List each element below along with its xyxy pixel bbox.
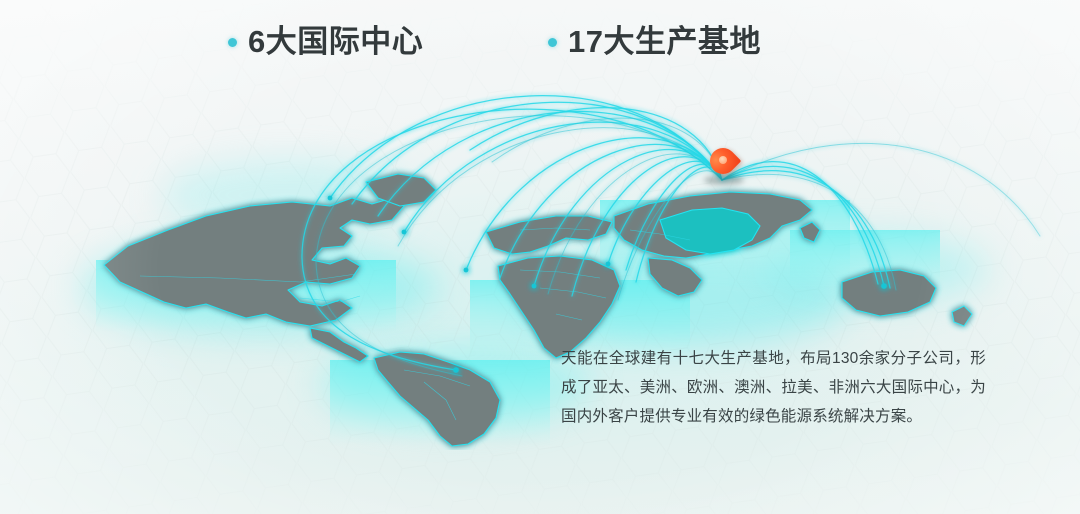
dot-icon [548, 38, 557, 47]
map-pin-icon[interactable] [710, 148, 736, 184]
landmass-australia [842, 270, 936, 316]
landmass-central-america [310, 328, 368, 362]
landmass-greenland [366, 174, 436, 206]
heading-1-label: 6大国际中心 [248, 20, 423, 64]
pin-shadow [704, 175, 744, 185]
landmass-europe [486, 216, 612, 254]
landmass-new-zealand [952, 306, 972, 326]
heading-2-label: 17大生产基地 [568, 20, 761, 64]
description-block: 天能在全球建有十七大生产基地，布局130余家分子公司，形成了亚太、美洲、欧洲、澳… [561, 344, 986, 431]
pin-inner-circle [719, 156, 727, 164]
description-text: 天能在全球建有十七大生产基地，布局130余家分子公司，形成了亚太、美洲、欧洲、澳… [561, 344, 986, 431]
heading-production-bases: 17大生产基地 [548, 20, 761, 64]
headings-row: 6大国际中心 17大生产基地 [0, 20, 1080, 74]
dot-icon [228, 38, 237, 47]
slide-canvas: 6大国际中心 17大生产基地 天能在全球建有十七大生产基地，布局130余家分子公… [0, 0, 1080, 514]
heading-international-centers: 6大国际中心 [228, 20, 423, 64]
